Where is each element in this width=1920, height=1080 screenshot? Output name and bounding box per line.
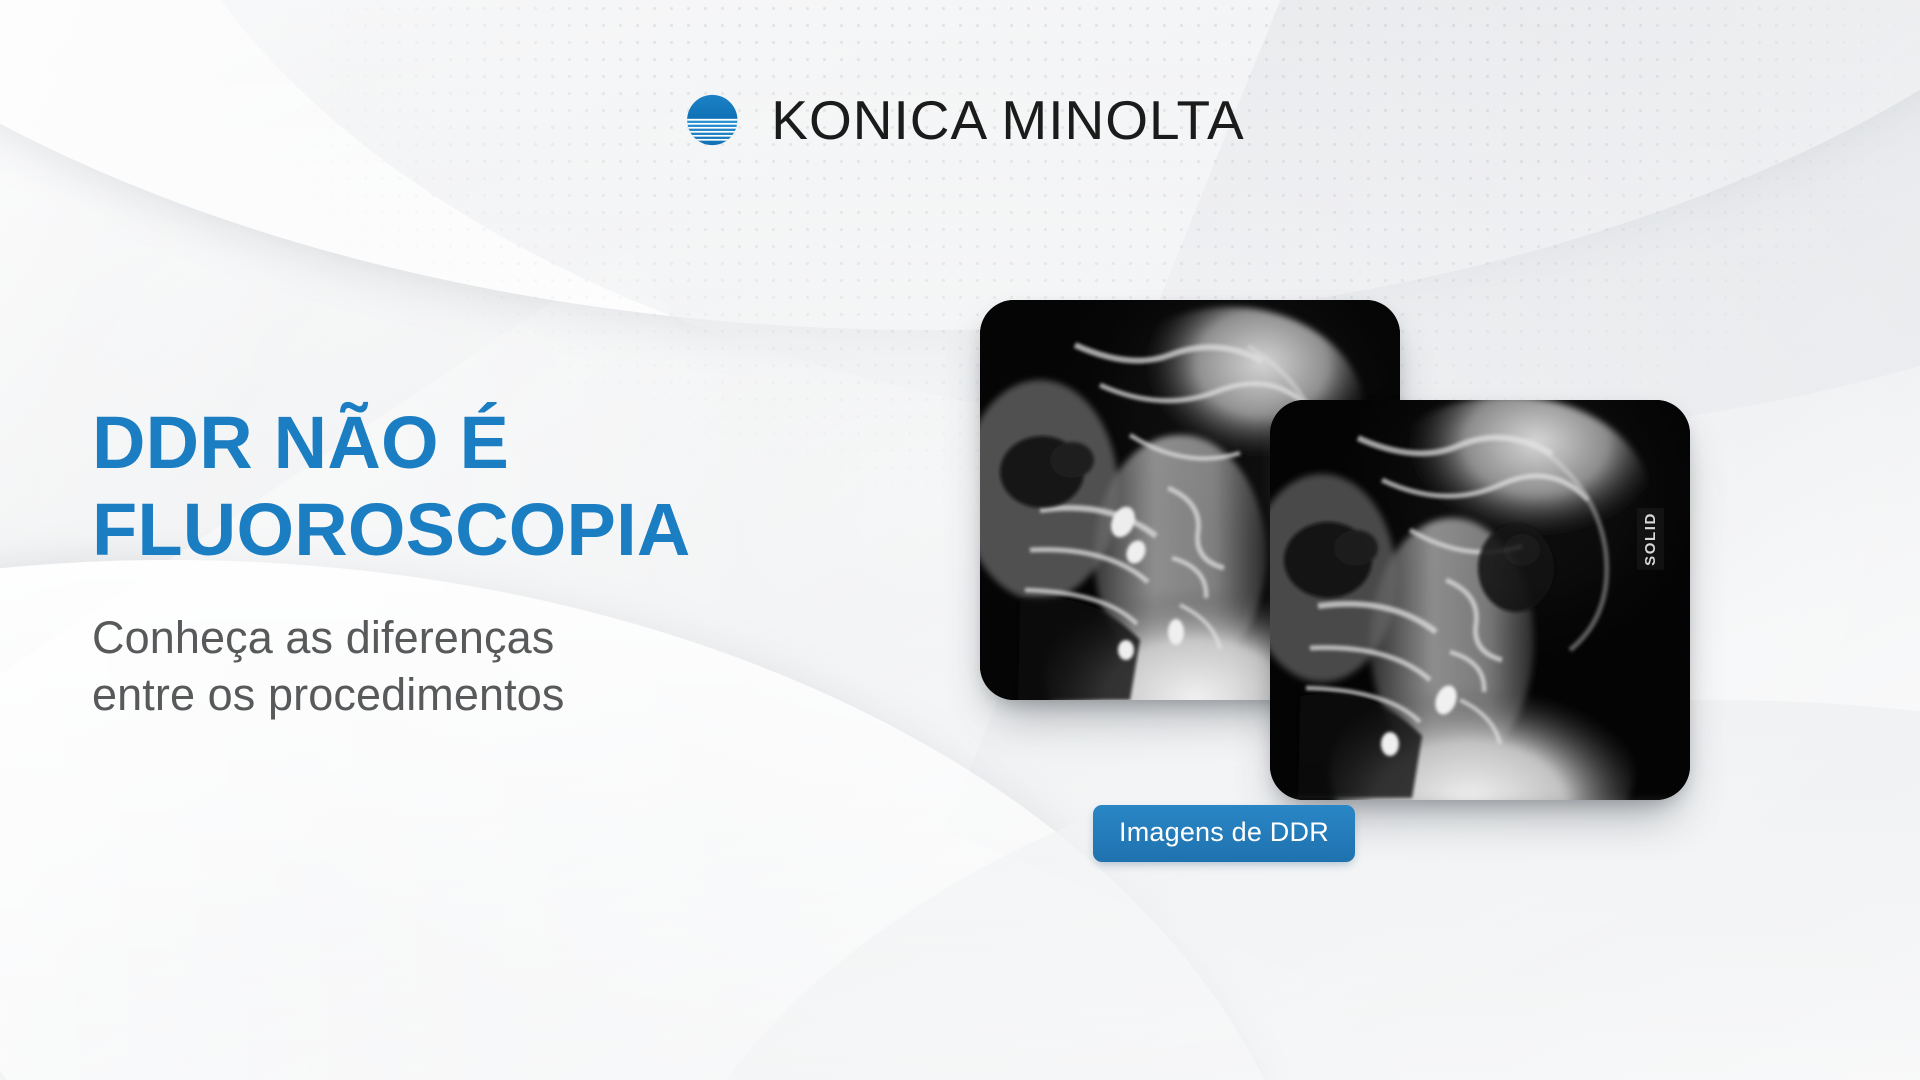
brand-wordmark: KONICA MINOLTA <box>771 93 1244 148</box>
cervical-spine-xray-front: SOLID <box>1270 400 1690 800</box>
konica-minolta-globe-icon <box>675 83 749 157</box>
page-title: DDR NÃO É FLUOROSCOPIA <box>92 400 852 573</box>
status-badge: Imagens de DDR <box>1093 805 1355 862</box>
hero-copy: DDR NÃO É FLUOROSCOPIA Conheça as difere… <box>92 400 852 723</box>
solid-watermark: SOLID <box>1637 508 1664 570</box>
slide-canvas: KONICA MINOLTA DDR NÃO É FLUOROSCOPIA Co… <box>0 0 1920 1080</box>
xray-front-render <box>1270 400 1690 800</box>
brand-logo: KONICA MINOLTA <box>675 83 1244 157</box>
hero-subtitle: Conheça as diferenças entre os procedime… <box>92 609 852 723</box>
